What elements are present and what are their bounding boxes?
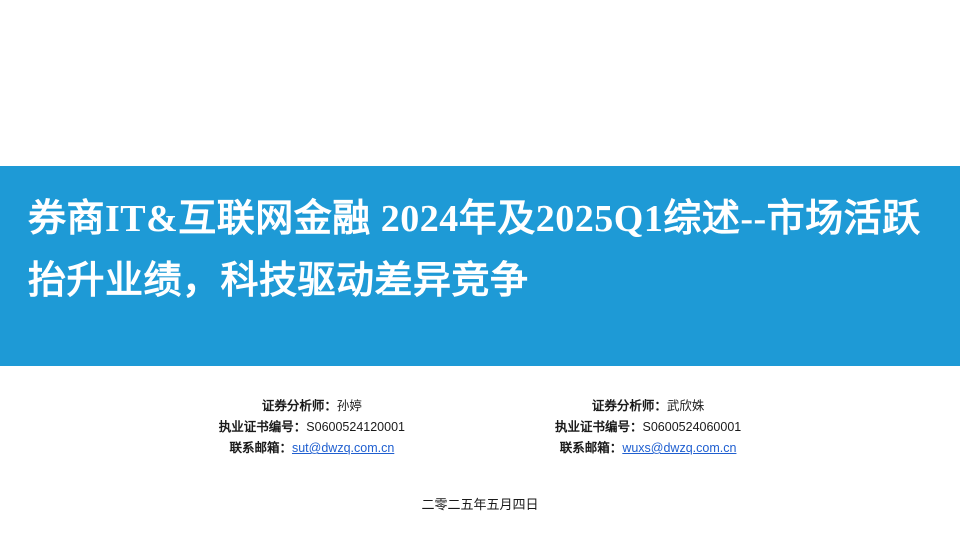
presentation-date: 二零二五年五月四日 [0, 494, 960, 513]
analyst-email-link-1[interactable]: sut@dwzq.com.cn [292, 441, 394, 455]
analyst-license-line-2: 执业证书编号：S0600524060001 [555, 417, 741, 438]
slide-root: 券商IT&互联网金融 2024年及2025Q1综述--市场活跃抬升业绩，科技驱动… [0, 0, 960, 540]
analyst-license-label-2: 执业证书编号： [555, 420, 643, 434]
analyst-email-link-2[interactable]: wuxs@dwzq.com.cn [622, 441, 736, 455]
analyst-license-no-2: S0600524060001 [643, 420, 742, 434]
analyst-name-1: 孙婷 [337, 399, 362, 413]
analyst-email-label-2: 联系邮箱： [560, 441, 623, 455]
analyst-license-no-1: S0600524120001 [306, 420, 405, 434]
title-banner: 券商IT&互联网金融 2024年及2025Q1综述--市场活跃抬升业绩，科技驱动… [0, 166, 960, 366]
analyst-column-1: 证券分析师：孙婷 执业证书编号：S0600524120001 联系邮箱：sut@… [219, 396, 405, 459]
analyst-role-label-1: 证券分析师： [262, 399, 337, 413]
analyst-email-line-1: 联系邮箱：sut@dwzq.com.cn [219, 438, 405, 459]
analyst-email-line-2: 联系邮箱：wuxs@dwzq.com.cn [555, 438, 741, 459]
analyst-block: 证券分析师：孙婷 执业证书编号：S0600524120001 联系邮箱：sut@… [0, 396, 960, 459]
analyst-column-2: 证券分析师：武欣姝 执业证书编号：S0600524060001 联系邮箱：wux… [555, 396, 741, 459]
analyst-name-line-2: 证券分析师：武欣姝 [555, 396, 741, 417]
analyst-name-line-1: 证券分析师：孙婷 [219, 396, 405, 417]
analyst-role-label-2: 证券分析师： [592, 399, 667, 413]
analyst-name-2: 武欣姝 [667, 399, 705, 413]
page-title: 券商IT&互联网金融 2024年及2025Q1综述--市场活跃抬升业绩，科技驱动… [28, 188, 940, 312]
analyst-license-line-1: 执业证书编号：S0600524120001 [219, 417, 405, 438]
analyst-license-label-1: 执业证书编号： [219, 420, 307, 434]
analyst-email-label-1: 联系邮箱： [229, 441, 292, 455]
